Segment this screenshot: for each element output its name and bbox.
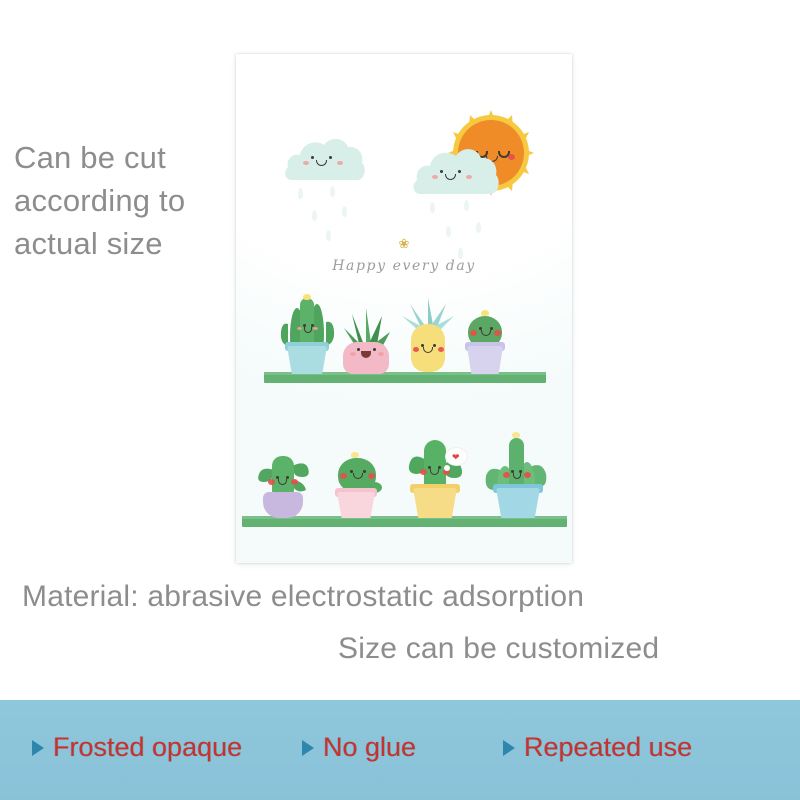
product-promo-page: Can be cut according to actual size: [0, 0, 800, 800]
feature-frosted-opaque[interactable]: Frosted opaque: [32, 732, 242, 763]
product-card: ❀ Happy every day: [236, 54, 572, 563]
pot-purple: [467, 346, 503, 374]
material-text: Material: abrasive electrostatic adsorpt…: [22, 580, 584, 614]
butterfly-icon: ❀: [236, 237, 572, 250]
plant-arm-cactus-purple: [252, 444, 314, 518]
feature-repeated-use[interactable]: Repeated use: [503, 732, 692, 763]
cloud-left-face: [284, 136, 366, 182]
feature-no-glue[interactable]: No glue: [302, 732, 416, 763]
pot-purple: [263, 492, 303, 518]
size-text: Size can be customized: [338, 632, 659, 666]
heart-icon: ❤: [452, 453, 460, 462]
plant-pineapple: [400, 298, 456, 374]
plant-face: [411, 342, 445, 362]
heart-speech-bubble: ❤: [446, 448, 467, 465]
cloud-right-face: [412, 146, 500, 196]
plant-heart-cactus-yellow: ❤: [396, 434, 468, 518]
happy-every-day-text: Happy every day: [236, 258, 572, 274]
headline-text: Can be cut according to actual size: [14, 136, 185, 265]
plant-face: [338, 346, 394, 366]
triangle-right-icon: [32, 740, 44, 756]
speech-bubble-tail: [444, 465, 450, 471]
plant-spiky-cactus-blue: [482, 432, 550, 518]
feature-label: Repeated use: [524, 732, 692, 763]
plant-round-cactus-purple: [460, 308, 510, 374]
cloud-left-icon: [284, 136, 366, 182]
plant-face: [424, 464, 446, 484]
product-card-surface: ❀ Happy every day: [236, 54, 572, 563]
plant-face: [468, 324, 502, 344]
plant-face: [272, 474, 294, 494]
feature-label: No glue: [323, 732, 416, 763]
cactus-bud: [512, 432, 520, 438]
cloud-right-icon: [412, 146, 500, 196]
plant-tall-cactus: [278, 294, 336, 374]
feature-banner: Frosted opaque No glue Repeated use: [0, 700, 800, 800]
pot-blue: [287, 346, 327, 374]
pot-yellow: [413, 488, 457, 518]
triangle-right-icon: [503, 740, 515, 756]
plant-face: [338, 467, 376, 487]
pot-blue: [496, 488, 540, 518]
plant-pink-succulent: [338, 304, 394, 374]
triangle-right-icon: [302, 740, 314, 756]
feature-label: Frosted opaque: [53, 732, 242, 763]
pot-pink: [337, 492, 375, 518]
plant-round-cactus-pink: [330, 450, 382, 518]
cloud-right-rain: [412, 196, 500, 260]
